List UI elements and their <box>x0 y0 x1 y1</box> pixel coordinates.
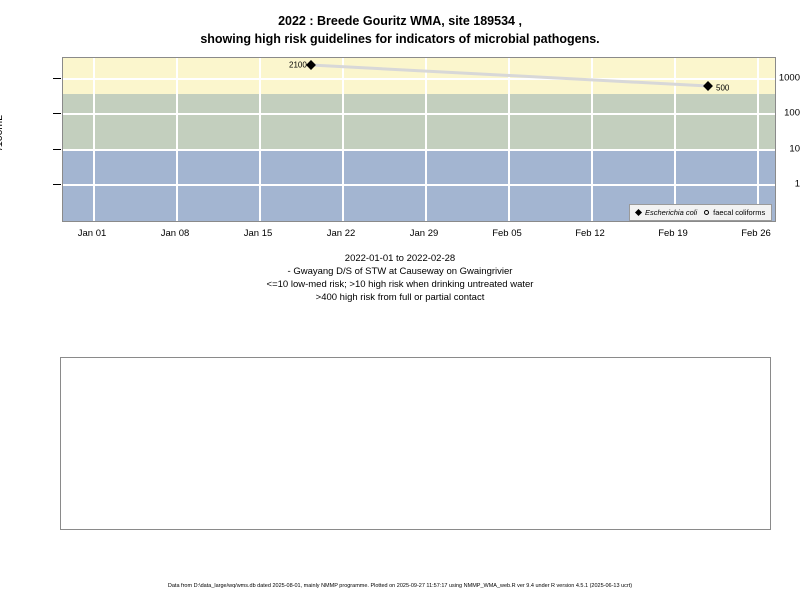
gridline-h-1 <box>63 184 775 186</box>
gridline-v-feb-05 <box>508 58 510 221</box>
gridline-h-100 <box>63 113 775 115</box>
chart-title-line-2: showing high risk guidelines for indicat… <box>0 30 800 48</box>
y-tick-mark-10 <box>53 149 61 150</box>
data-point-label: 2100 <box>289 61 307 70</box>
chart-title: 2022 : Breede Gouritz WMA, site 189534 ,… <box>0 12 800 48</box>
x-tick-label-jan-08: Jan 08 <box>161 228 190 239</box>
open-circle-icon <box>704 210 709 215</box>
y-tick-mark-100 <box>53 113 61 114</box>
x-tick-label-feb-05: Feb 05 <box>492 228 522 239</box>
x-tick-label-jan-22: Jan 22 <box>327 228 356 239</box>
footer-note: Data from D:\data_large/wq/wms.db dated … <box>0 583 800 589</box>
legend-label-escherichia-coli: Escherichia coli <box>645 208 697 217</box>
gridline-h-10 <box>63 149 775 151</box>
risk-band-high-contact <box>63 58 775 94</box>
subtitle-date-range: 2022-01-01 to 2022-02-28 <box>0 252 800 265</box>
legend-item-escherichia-coli[interactable]: Escherichia coli <box>636 208 697 217</box>
chart-legend[interactable]: Escherichia coli faecal coliforms <box>629 204 772 221</box>
x-tick-label-feb-26: Feb 26 <box>741 228 771 239</box>
filled-diamond-icon <box>635 209 642 216</box>
x-tick-label-jan-01: Jan 01 <box>78 228 107 239</box>
chart-subtitle: 2022-01-01 to 2022-02-28 - Gwayang D/S o… <box>0 252 800 304</box>
subtitle-site-description: - Gwayang D/S of STW at Causeway on Gwai… <box>0 265 800 278</box>
subtitle-risk-note-contact: >400 high risk from full or partial cont… <box>0 291 800 304</box>
x-tick-label-feb-19: Feb 19 <box>658 228 688 239</box>
y-tick-mark-1 <box>53 184 61 185</box>
gridline-v-jan-22 <box>342 58 344 221</box>
y-tick-mark-1000 <box>53 78 61 79</box>
y-axis-title: /100mL <box>0 115 5 150</box>
gridline-v-feb-26 <box>757 58 759 221</box>
subtitle-risk-note-drinking: <=10 low-med risk; >10 high risk when dr… <box>0 278 800 291</box>
data-point-label: 500 <box>716 84 729 93</box>
legend-label-faecal-coliforms: faecal coliforms <box>713 208 765 217</box>
gridline-v-jan-08 <box>176 58 178 221</box>
gridline-v-jan-01 <box>93 58 95 221</box>
plot-area <box>62 57 776 222</box>
gridline-v-jan-15 <box>259 58 261 221</box>
gridline-v-jan-29 <box>425 58 427 221</box>
x-tick-label-jan-15: Jan 15 <box>244 228 273 239</box>
x-tick-label-jan-29: Jan 29 <box>410 228 439 239</box>
secondary-plot-panel <box>60 357 771 530</box>
gridline-h-1000 <box>63 78 775 80</box>
legend-item-faecal-coliforms[interactable]: faecal coliforms <box>704 208 765 217</box>
risk-band-high-drinking <box>63 94 775 149</box>
gridline-v-feb-12 <box>591 58 593 221</box>
gridline-v-feb-19 <box>674 58 676 221</box>
chart-title-line-1: 2022 : Breede Gouritz WMA, site 189534 , <box>0 12 800 30</box>
x-tick-label-feb-12: Feb 12 <box>575 228 605 239</box>
